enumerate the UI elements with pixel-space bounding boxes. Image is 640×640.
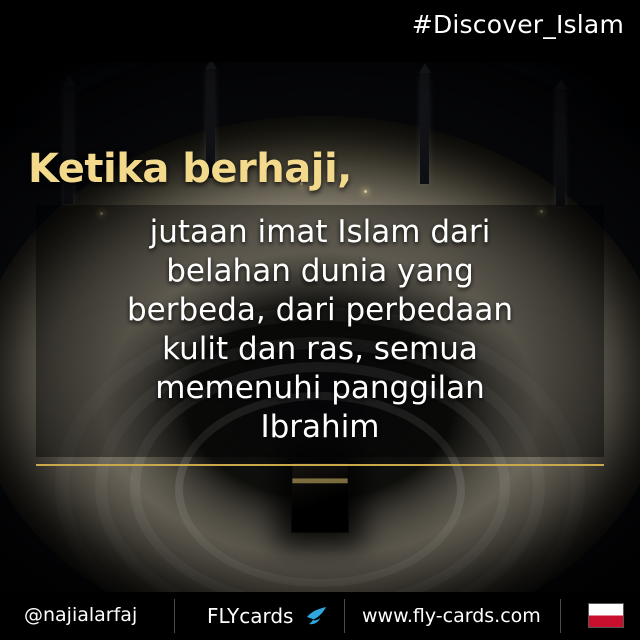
top-bar: #Discover_Islam: [0, 0, 640, 62]
quote-line: Ibrahim: [36, 408, 604, 447]
headline-text: Ketika berhaji,: [28, 146, 352, 192]
gold-divider: [36, 464, 604, 466]
brand-cards-text: cards: [239, 604, 293, 628]
quote-panel: jutaan imat Islam dari belahan dunia yan…: [36, 205, 604, 457]
author-handle[interactable]: @najialarfaj: [24, 604, 137, 626]
quote-line: berbeda, dari perbedaan: [36, 291, 604, 330]
bird-icon: [306, 606, 328, 626]
quote-line: belahan dunia yang: [36, 252, 604, 291]
quote-line: jutaan imat Islam dari: [36, 213, 604, 252]
brand-label: FLYcards: [207, 604, 293, 628]
footer-divider: [560, 599, 561, 633]
islamic-quote-card: #Discover_Islam Ketika berhaji, jutaan i…: [0, 0, 640, 640]
footer-divider: [344, 599, 345, 633]
quote-line: memenuhi panggilan: [36, 369, 604, 408]
footer-bar: @najialarfaj FLYcards www.fly-cards.com: [0, 592, 640, 640]
quote-line: kulit dan ras, semua: [36, 330, 604, 369]
hashtag-label: #Discover_Islam: [412, 10, 624, 39]
footer-divider: [174, 599, 175, 633]
website-link[interactable]: www.fly-cards.com: [362, 605, 541, 627]
brand-fly-text: FLY: [207, 604, 239, 628]
indonesia-flag-icon: [588, 603, 624, 628]
